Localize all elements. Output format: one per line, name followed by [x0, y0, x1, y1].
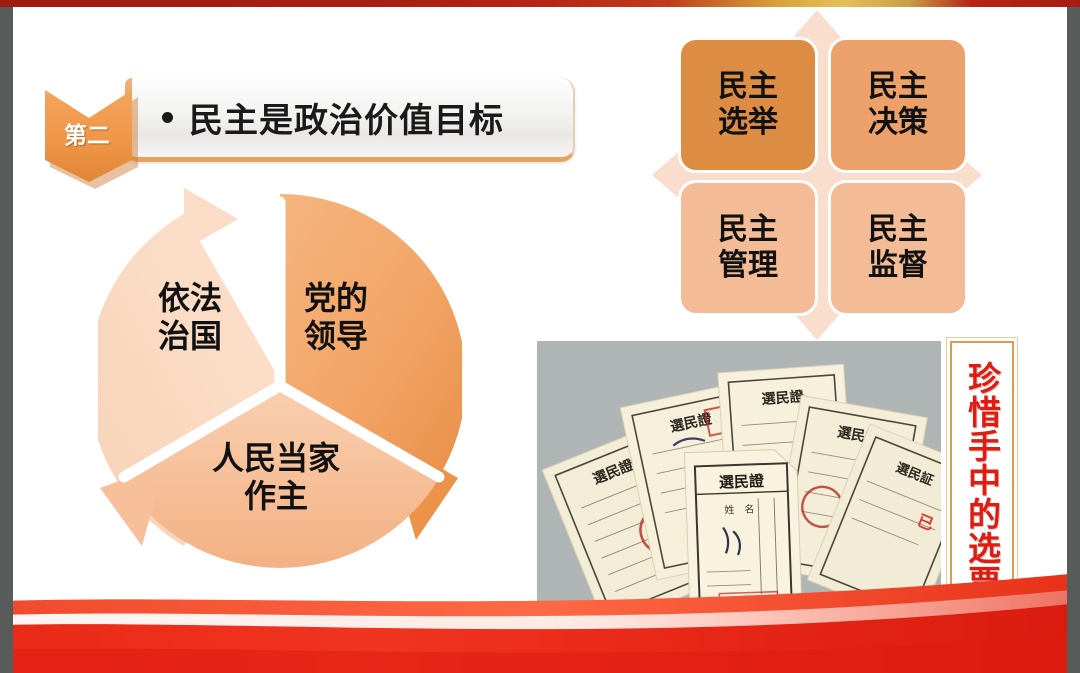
box-democratic-management[interactable]: 民主 管理	[678, 180, 818, 316]
box-label: 民主 管理	[718, 212, 778, 284]
circle-diagram-svg	[98, 188, 462, 572]
box-democratic-decision[interactable]: 民主 决策	[828, 37, 968, 173]
swoosh-svg	[0, 563, 1080, 673]
frame-border-left	[0, 0, 13, 673]
bottom-swoosh-decoration	[0, 563, 1080, 673]
box-label: 民主 决策	[868, 69, 928, 141]
page-title: 民主是政治价值目标	[189, 93, 504, 142]
slide-title-banner: 民主是政治价值目标	[125, 78, 575, 162]
section-number-badge: 第二	[33, 84, 141, 190]
box-democratic-election[interactable]: 民主 选举	[678, 37, 818, 173]
badge-chevron-shape	[33, 84, 141, 190]
presentation-slide: 民主是政治价值目标 第二	[0, 0, 1080, 673]
frame-border-top	[0, 0, 1080, 7]
frame-border-right	[1067, 0, 1080, 673]
democracy-four-boxes-group: 民主 选举 民主 决策 民主 管理 民主 监督	[652, 10, 982, 340]
box-democratic-supervision[interactable]: 民主 监督	[828, 180, 968, 316]
circular-cycle-diagram: 党的 领导 人民当家 作主 依法 治国	[98, 188, 462, 572]
box-label: 民主 选举	[718, 69, 778, 141]
svg-text:選民證: 選民證	[719, 472, 766, 492]
svg-text:姓 名: 姓 名	[724, 502, 754, 516]
bullet-dot-icon	[162, 112, 173, 123]
box-label: 民主 监督	[868, 212, 928, 284]
